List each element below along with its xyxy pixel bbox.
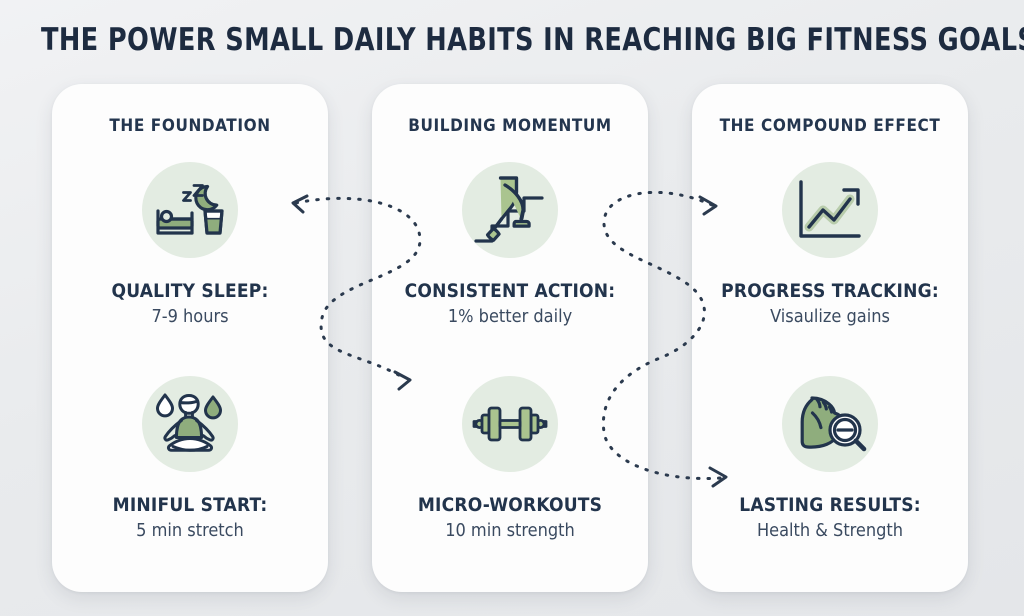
rising-chart-arrow-icon <box>782 162 878 258</box>
page-title: THE POWER SMALL DAILY HABITS IN REACHING… <box>41 22 983 58</box>
habit-heading: MICRO-WORKOUTS <box>372 494 648 516</box>
habit-subtext: 5 min stretch <box>52 520 328 541</box>
habit-subtext: 1% better daily <box>372 306 648 327</box>
sleep-bed-moon-water-icon <box>142 162 238 258</box>
meditation-lotus-droplets-icon <box>142 376 238 472</box>
habit-heading: PROGRESS TRACKING: <box>692 280 968 302</box>
habit-heading: CONSISTENT ACTION: <box>372 280 648 302</box>
column-card-compound-effect: THE COMPOUND EFFECT PROGRESS TRACKING: <box>692 84 968 592</box>
dumbbell-icon <box>462 376 558 472</box>
habit-subtext: 10 min strength <box>372 520 648 541</box>
habit-item: PROGRESS TRACKING: Visaulize gains <box>692 162 968 327</box>
column-heading: BUILDING MOMENTUM <box>372 116 648 136</box>
column-card-momentum: BUILDING MOMENTUM <box>372 84 648 592</box>
habit-item: MINIFUL START: 5 min stretch <box>52 376 328 541</box>
habit-subtext: Visaulize gains <box>692 306 968 327</box>
habit-subtext: 7-9 hours <box>52 306 328 327</box>
habit-heading: QUALITY SLEEP: <box>52 280 328 302</box>
habit-heading: MINIFUL START: <box>52 494 328 516</box>
column-heading: THE FOUNDATION <box>52 116 328 136</box>
habit-item: LASTING RESULTS: Health & Strength <box>692 376 968 541</box>
habit-subtext: Health & Strength <box>692 520 968 541</box>
habit-item: MICRO-WORKOUTS 10 min strength <box>372 376 648 541</box>
infographic-canvas: THE POWER SMALL DAILY HABITS IN REACHING… <box>0 0 1024 616</box>
column-heading: THE COMPOUND EFFECT <box>692 116 968 136</box>
flexed-bicep-magnifier-icon <box>782 376 878 472</box>
column-card-foundation: THE FOUNDATION <box>52 84 328 592</box>
habit-item: QUALITY SLEEP: 7-9 hours <box>52 162 328 327</box>
legs-climbing-stairs-icon <box>462 162 558 258</box>
habit-heading: LASTING RESULTS: <box>692 494 968 516</box>
habit-item: CONSISTENT ACTION: 1% better daily <box>372 162 648 327</box>
